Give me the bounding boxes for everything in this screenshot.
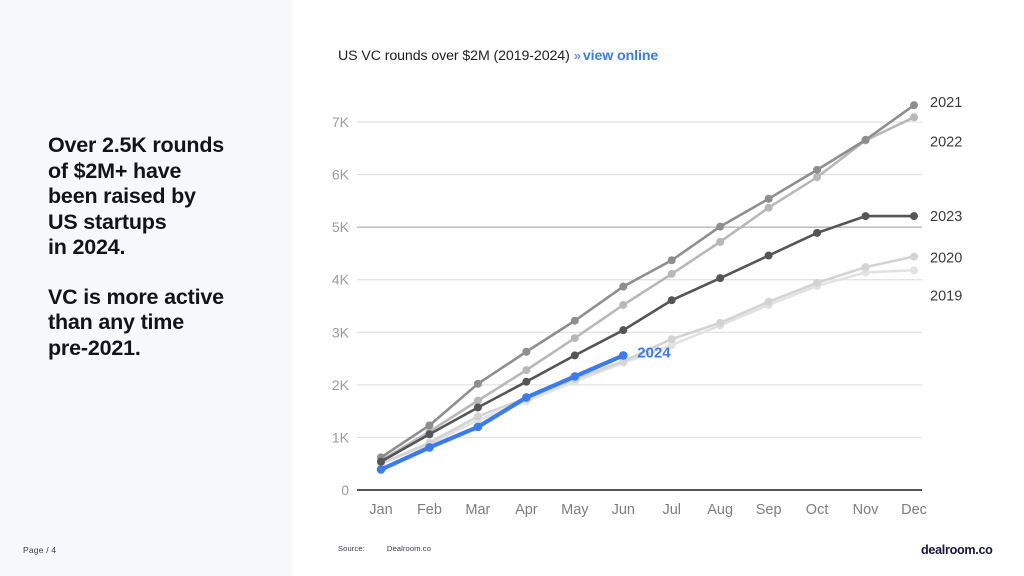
data-point (813, 229, 821, 237)
data-point (474, 423, 483, 432)
y-tick-label: 0 (341, 482, 349, 498)
y-tick-label: 3K (332, 324, 350, 340)
headline-paragraph-1: Over 2.5K rounds of $2M+ have been raise… (48, 133, 268, 261)
chart-panel: US VC rounds over $2M (2019-2024)»view o… (292, 0, 1024, 576)
data-point (474, 397, 482, 405)
series-label-2023: 2023 (930, 209, 962, 225)
chart-plot-area: 01K2K3K4K5K6K7K JanFebMarAprMayJunJulAug… (292, 0, 1024, 576)
data-point (377, 458, 385, 466)
data-point (716, 274, 724, 282)
data-point (765, 298, 773, 306)
series-line (381, 355, 623, 469)
data-point (571, 317, 579, 325)
page-number: Page / 4 (23, 545, 56, 555)
x-tick-label: Nov (853, 502, 880, 518)
x-tick-label: Jul (662, 502, 681, 518)
data-point (716, 223, 724, 231)
data-point (522, 378, 530, 386)
y-axis-tick-labels: 01K2K3K4K5K6K7K (332, 114, 350, 498)
chart-annotations: 2024 (637, 344, 671, 361)
data-point (765, 195, 773, 203)
data-point (522, 348, 530, 356)
x-tick-label: Oct (806, 502, 829, 518)
data-point (619, 326, 627, 334)
x-tick-label: Mar (465, 502, 490, 518)
series-lines-group (377, 101, 918, 474)
x-tick-label: Dec (901, 502, 927, 518)
data-point (474, 403, 482, 411)
y-tick-label: 5K (332, 219, 350, 235)
data-point (425, 430, 433, 438)
x-tick-label: Feb (417, 502, 442, 518)
line-chart-svg: 01K2K3K4K5K6K7K JanFebMarAprMayJunJulAug… (292, 0, 1024, 576)
series-2024 (377, 351, 628, 474)
data-point (862, 212, 870, 220)
data-point (716, 238, 724, 246)
data-point (862, 263, 870, 271)
source-line: Source:Dealroom.co (338, 544, 431, 553)
annotation-2024: 2024 (637, 344, 671, 361)
data-point (522, 393, 531, 402)
data-point (668, 296, 676, 304)
x-tick-label: Jun (612, 502, 635, 518)
y-tick-label: 4K (332, 272, 350, 288)
data-point (813, 173, 821, 181)
data-point (571, 372, 580, 381)
x-tick-label: Jan (369, 502, 392, 518)
series-label-2019: 2019 (930, 288, 962, 304)
data-point (571, 334, 579, 342)
x-tick-label: Aug (707, 502, 733, 518)
data-point (474, 412, 482, 420)
y-tick-label: 6K (332, 167, 350, 183)
data-point (813, 279, 821, 287)
data-point (425, 421, 433, 429)
headline-block: Over 2.5K rounds of $2M+ have been raise… (48, 133, 268, 361)
series-end-labels: 20212022202320202019 (930, 95, 962, 304)
series-label-2022: 2022 (930, 134, 962, 150)
data-point (910, 101, 918, 109)
data-point (765, 204, 773, 212)
source-label: Source: (338, 544, 365, 553)
data-point (377, 465, 386, 474)
data-point (668, 270, 676, 278)
data-point (474, 380, 482, 388)
data-point (716, 319, 724, 327)
series-label-2021: 2021 (930, 95, 962, 111)
slide-root: Over 2.5K rounds of $2M+ have been raise… (0, 0, 1024, 576)
x-tick-label: Sep (756, 502, 782, 518)
data-point (910, 113, 918, 121)
data-point (910, 266, 918, 274)
data-point (522, 366, 530, 374)
dealroom-logo: dealroom.co (921, 543, 993, 557)
series-line (381, 117, 914, 460)
data-point (668, 256, 676, 264)
series-2022 (377, 113, 918, 464)
data-point (765, 252, 773, 260)
data-point (619, 301, 627, 309)
data-point (619, 351, 628, 360)
series-label-2020: 2020 (930, 251, 962, 267)
data-point (862, 136, 870, 144)
data-point (571, 351, 579, 359)
y-tick-label: 7K (332, 114, 350, 130)
left-text-panel: Over 2.5K rounds of $2M+ have been raise… (0, 0, 292, 576)
data-point (668, 335, 676, 343)
x-tick-label: May (561, 502, 589, 518)
data-point (619, 283, 627, 291)
data-point (813, 166, 821, 174)
data-point (425, 443, 434, 452)
x-tick-label: Apr (515, 502, 538, 518)
x-axis-tick-labels: JanFebMarAprMayJunJulAugSepOctNovDec (369, 502, 927, 518)
headline-paragraph-2: VC is more active than any time pre-2021… (48, 285, 268, 362)
y-tick-label: 2K (332, 377, 350, 393)
y-tick-label: 1K (332, 429, 350, 445)
source-value: Dealroom.co (387, 544, 431, 553)
data-point (910, 253, 918, 261)
data-point (910, 212, 918, 220)
